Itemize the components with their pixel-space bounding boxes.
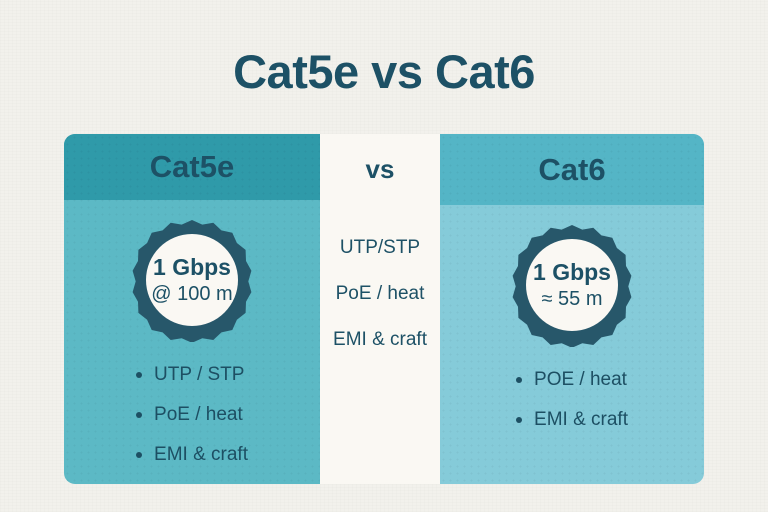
badge-text-right: 1 Gbps ≈ 55 m: [510, 223, 634, 347]
shared-feature-list: UTP/STP PoE / heat EMI & craft: [333, 237, 427, 351]
bullet-label: POE / heat: [534, 369, 627, 391]
panel-cat5e: Cat5e 1 Gbps @ 100 m UTP / STP PoE / hea…: [64, 134, 320, 484]
bullet-label: PoE / heat: [154, 404, 243, 426]
panel-header-cat6: Cat6: [440, 134, 704, 205]
bullet-dot-icon: [136, 452, 142, 458]
badge-cat6: 1 Gbps ≈ 55 m: [510, 223, 634, 347]
bullet-dot-icon: [516, 417, 522, 423]
bullet-dot-icon: [136, 412, 142, 418]
bullet-label: UTP / STP: [154, 364, 244, 386]
badge-distance-cat5e: @ 100 m: [151, 284, 232, 305]
list-item: PoE / heat: [136, 404, 248, 426]
badge-speed-cat5e: 1 Gbps: [153, 255, 231, 279]
page-title: Cat5e vs Cat6: [0, 44, 768, 99]
bullet-label: EMI & craft: [534, 409, 628, 431]
panel-cat6: Cat6 1 Gbps ≈ 55 m POE / heat EMI & craf…: [440, 134, 704, 484]
shared-feature-item: UTP/STP: [340, 237, 420, 259]
panel-vs-divider: vs UTP/STP PoE / heat EMI & craft: [320, 134, 440, 484]
badge-cat5e: 1 Gbps @ 100 m: [130, 218, 254, 342]
list-item: POE / heat: [516, 369, 628, 391]
vs-label: vs: [320, 134, 440, 205]
badge-speed-cat6: 1 Gbps: [533, 260, 611, 284]
list-item: UTP / STP: [136, 364, 248, 386]
badge-distance-cat6: ≈ 55 m: [542, 289, 603, 310]
bullet-list-cat6: POE / heat EMI & craft: [516, 369, 628, 449]
bullet-dot-icon: [516, 377, 522, 383]
comparison-card: Cat5e 1 Gbps @ 100 m UTP / STP PoE / hea…: [64, 134, 704, 484]
bullet-label: EMI & craft: [154, 444, 248, 466]
shared-feature-item: PoE / heat: [336, 283, 425, 305]
shared-feature-item: EMI & craft: [333, 329, 427, 351]
bullet-dot-icon: [136, 372, 142, 378]
panel-header-cat5e: Cat5e: [64, 134, 320, 200]
list-item: EMI & craft: [516, 409, 628, 431]
badge-text-left: 1 Gbps @ 100 m: [130, 218, 254, 342]
bullet-list-cat5e: UTP / STP PoE / heat EMI & craft: [136, 364, 248, 484]
list-item: EMI & craft: [136, 444, 248, 466]
